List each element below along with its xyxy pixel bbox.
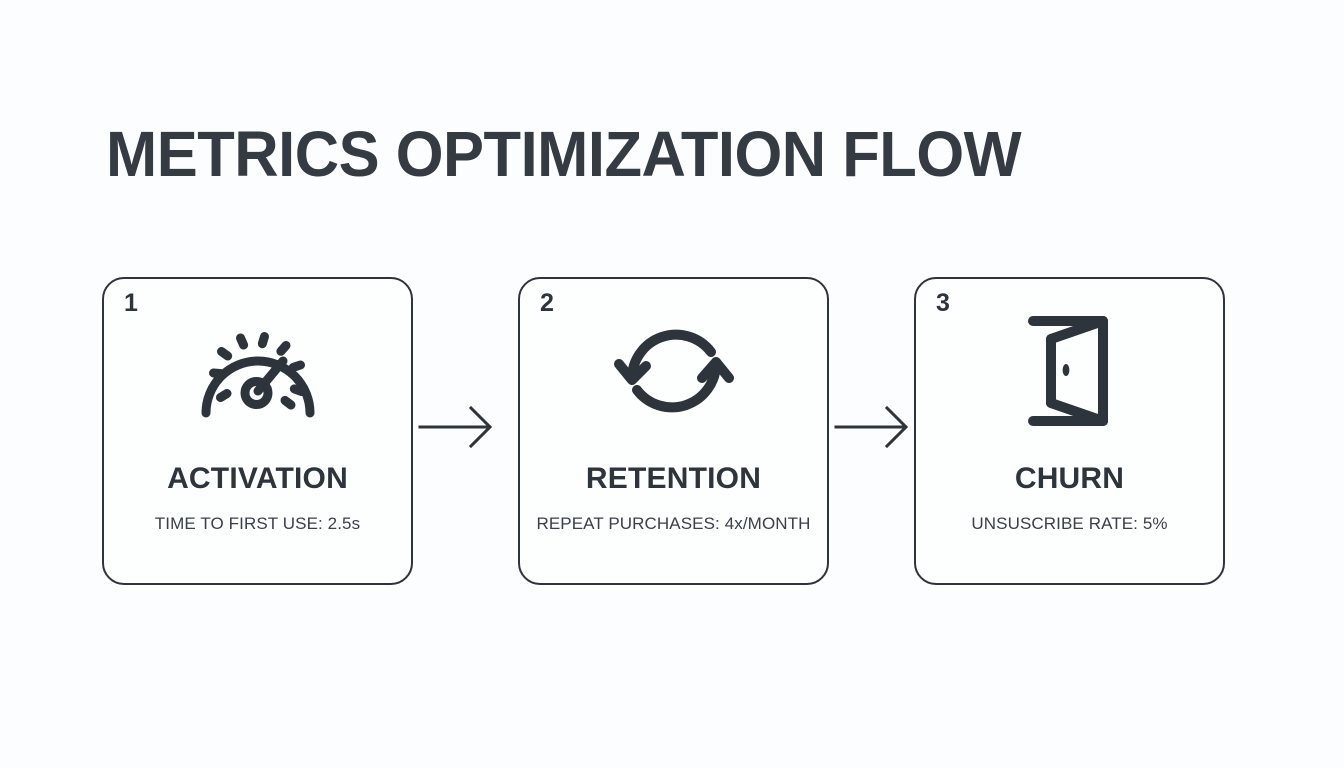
refresh-cycle-icon [520, 311, 827, 431]
step-card-activation[interactable]: 1 [102, 277, 413, 585]
flow-diagram: 1 [102, 277, 1237, 589]
arrow-right-icon [834, 405, 916, 449]
step-label: ACTIVATION [104, 462, 411, 495]
step-metric: REPEAT PURCHASES: 4x/MONTH [520, 514, 827, 534]
step-metric: TIME TO FIRST USE: 2.5s [104, 514, 411, 534]
page-title: METRICS OPTIMIZATION FLOW [106, 122, 1021, 186]
step-card-retention[interactable]: 2 RETENTION REPEAT PURCHASES: 4x/MONTH [518, 277, 829, 585]
step-card-churn[interactable]: 3 CHUR [914, 277, 1225, 585]
step-label: RETENTION [520, 462, 827, 495]
step-metric: UNSUSCRIBE RATE: 5% [916, 514, 1223, 534]
arrow-right-icon [418, 405, 500, 449]
open-door-icon [916, 311, 1223, 431]
slide-canvas: METRICS OPTIMIZATION FLOW 1 [0, 0, 1344, 768]
gauge-icon [104, 311, 411, 431]
step-label: CHURN [916, 462, 1223, 495]
